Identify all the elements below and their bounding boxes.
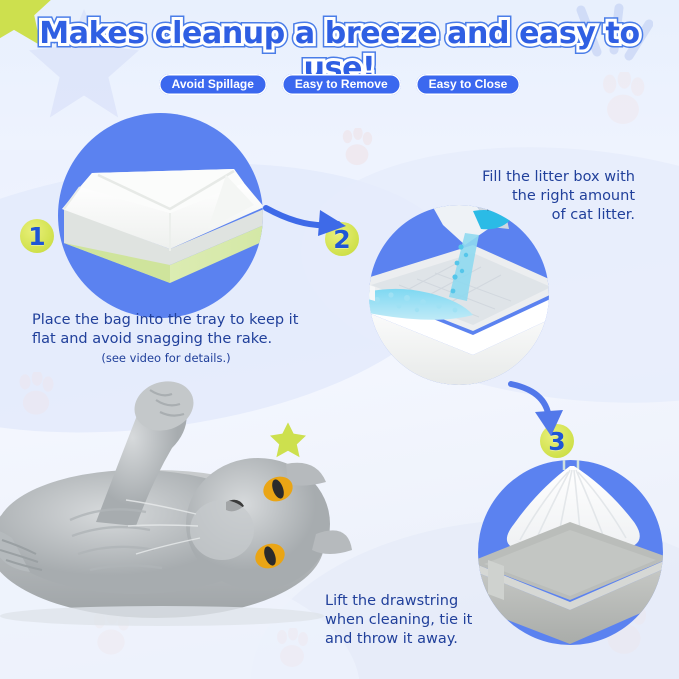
pill-avoid-spillage[interactable]: Avoid Spillage [159,74,267,95]
step-3-caption-line1: Lift the drawstring [325,592,565,611]
step-3-caption-line3: and throw it away. [325,630,565,649]
step-badge-3: 3 [540,424,574,458]
cat-photo [0,372,352,634]
step-1-image [58,113,263,318]
step-1-caption-note: (see video for details.) [32,351,300,366]
page-title: Makes cleanup a breeze and easy to use! … [0,16,679,60]
paw-print-icon [272,628,312,670]
step-1-caption: Place the bag into the tray to keep it f… [32,311,332,366]
step-badge-2: 2 [325,222,359,256]
step-1-caption-line2: flat and avoid snagging the rake. [32,330,332,349]
promo-banner: Makes cleanup a breeze and easy to use! … [0,0,679,679]
step-1-caption-line1: Place the bag into the tray to keep it [32,311,332,330]
step-3-caption: Lift the drawstring when cleaning, tie i… [325,592,565,649]
step-2-caption-line1: Fill the litter box with [400,168,635,187]
step-3-caption-line2: when cleaning, tie it [325,611,565,630]
step-2-image [369,205,549,385]
feature-pill-row: Avoid Spillage Easy to Remove Easy to Cl… [0,74,679,95]
step-2-caption: Fill the litter box with the right amoun… [400,168,635,225]
pill-easy-to-remove[interactable]: Easy to Remove [282,74,401,95]
step-1-photo [58,113,263,318]
step-2-caption-line3: of cat litter. [400,206,635,225]
step-badge-1: 1 [20,219,54,253]
step-2-photo [369,205,549,385]
pill-easy-to-close[interactable]: Easy to Close [416,74,521,95]
step-2-caption-line2: the right amount [400,187,635,206]
